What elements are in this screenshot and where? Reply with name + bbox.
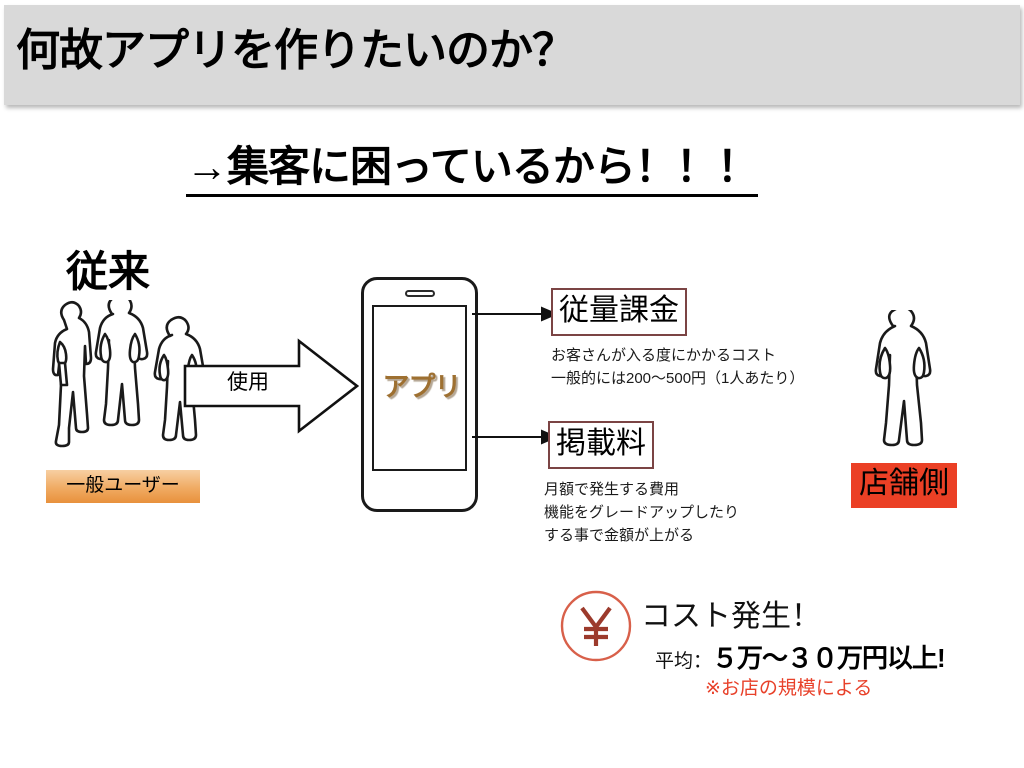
average-cost-line: 平均：５万〜３０万円以上! bbox=[655, 641, 945, 680]
page-title: 何故アプリを作りたいのか？ bbox=[16, 21, 575, 81]
subtitle-text: →集客に困っているから！！！ bbox=[186, 142, 758, 197]
average-label: 平均： bbox=[655, 651, 712, 672]
cost-desc-line: お客さんが入る度にかかるコスト bbox=[551, 344, 804, 367]
general-user-label: 一般ユーザー bbox=[46, 470, 200, 503]
cost-desc-listing-fee: 月額で発生する費用 機能をグレードアップしたり する事で金額が上がる bbox=[544, 478, 739, 547]
yen-circle-icon bbox=[559, 589, 633, 663]
average-value: ５万〜３０万円以上! bbox=[712, 643, 945, 673]
title-bar: 何故アプリを作りたいのか？ bbox=[4, 5, 1020, 105]
cost-desc-line: 機能をグレードアップしたり bbox=[544, 501, 739, 524]
cost-desc-line: する事で金額が上がる bbox=[544, 524, 739, 547]
smartphone-icon: アプリ bbox=[361, 277, 478, 512]
cost-occurrence-headline: コスト発生！ bbox=[641, 597, 821, 637]
shop-side-label: 店舗側 bbox=[851, 463, 957, 508]
cost-box-listing-fee: 掲載料 bbox=[548, 421, 654, 469]
cost-box-usage-fee: 従量課金 bbox=[551, 288, 687, 336]
phone-app-label: アプリ bbox=[374, 365, 469, 404]
usage-arrow-label: 使用 bbox=[183, 370, 313, 396]
cost-desc-line: 月額で発生する費用 bbox=[544, 478, 739, 501]
cost-desc-usage-fee: お客さんが入る度にかかるコスト 一般的には200〜500円（1人あたり） bbox=[551, 344, 804, 390]
scale-note: ※お店の規模による bbox=[705, 676, 872, 702]
person-silhouette-icon bbox=[862, 310, 940, 470]
phone-speaker bbox=[405, 290, 435, 297]
cost-desc-line: 一般的には200〜500円（1人あたり） bbox=[551, 367, 804, 390]
phone-screen: アプリ bbox=[372, 305, 467, 471]
slide-canvas: 何故アプリを作りたいのか？ →集客に困っているから！！！ 従来 bbox=[0, 0, 1024, 768]
legacy-heading: 従来 bbox=[66, 248, 150, 296]
